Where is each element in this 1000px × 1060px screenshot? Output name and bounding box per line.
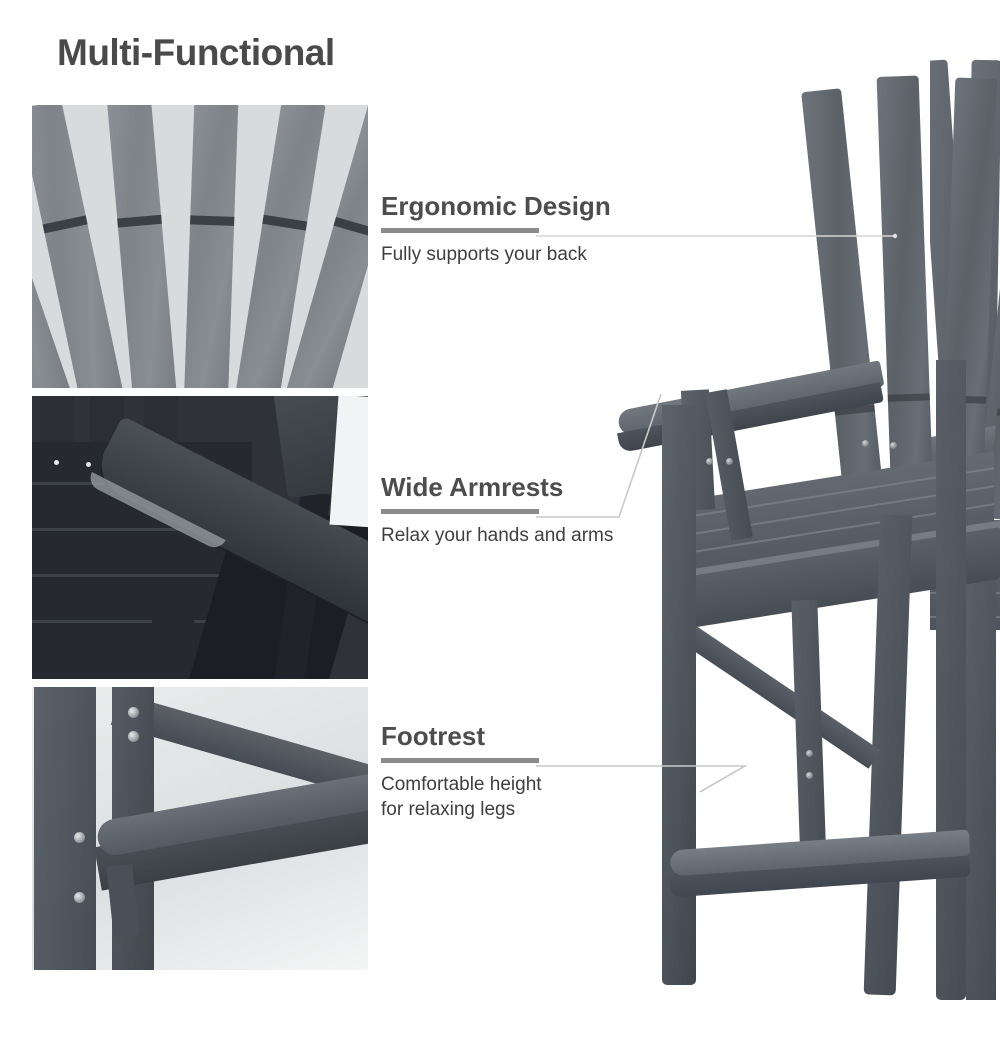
fastener-dot (86, 462, 91, 467)
screw-icon (706, 458, 713, 465)
feature-description: Fully supports your back (381, 242, 611, 267)
feature-rule (381, 758, 541, 763)
feature-description: Comfortable height for relaxing legs (381, 772, 542, 822)
main-product-image (600, 60, 1000, 1000)
back-slat (107, 105, 177, 388)
thumbnail-armrest[interactable] (32, 396, 368, 679)
thumbnail-footrest[interactable] (32, 687, 368, 970)
feature-description: Relax your hands and arms (381, 523, 613, 548)
feature-ergonomic-design: Ergonomic Design Fully supports your bac… (381, 192, 611, 267)
page-title: Multi-Functional (57, 32, 335, 74)
back-slat (184, 105, 238, 388)
back-slats-image (32, 105, 368, 388)
feature-title: Wide Armrests (381, 473, 613, 503)
feature-footrest: Footrest Comfortable height for relaxing… (381, 722, 542, 822)
screw-icon (726, 458, 733, 465)
footrest-image (32, 687, 368, 970)
chair-leg-front (34, 687, 96, 970)
feature-wide-armrests: Wide Armrests Relax your hands and arms (381, 473, 613, 548)
screw-icon (128, 707, 139, 718)
fastener-dot (54, 460, 59, 465)
diagonal-stretcher (678, 622, 881, 769)
feature-rule (381, 228, 541, 233)
screw-icon (806, 772, 813, 779)
feature-title: Footrest (381, 722, 542, 752)
screw-icon (74, 832, 85, 843)
screw-icon (806, 750, 813, 757)
chair-leg (966, 560, 996, 1000)
screw-icon (890, 442, 897, 449)
armrest-image (32, 396, 368, 679)
chair-leg-front (662, 405, 696, 985)
screw-icon (128, 731, 139, 742)
chair-leg-rear (936, 360, 966, 1000)
back-slat (801, 88, 886, 520)
infographic-page: Multi-Functional (0, 0, 1000, 1000)
back-slat (877, 76, 934, 519)
screw-icon (862, 440, 869, 447)
thumbnail-back-slats[interactable] (32, 105, 368, 388)
screw-icon (74, 892, 85, 903)
feature-title: Ergonomic Design (381, 192, 611, 222)
feature-rule (381, 509, 541, 514)
vertical-stretcher (791, 600, 826, 871)
